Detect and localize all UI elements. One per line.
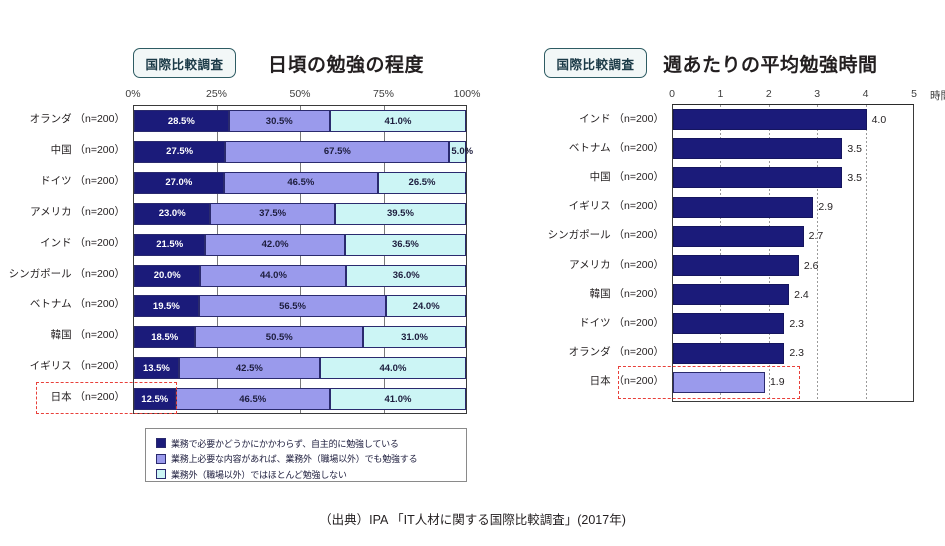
left-bar-segment: 20.0% bbox=[134, 265, 200, 287]
left-bar-segment: 46.5% bbox=[224, 172, 378, 194]
right-survey-badge: 国際比較調査 bbox=[544, 48, 647, 78]
right-axis-tick: 3 bbox=[814, 88, 820, 100]
right-axis-tick: 1 bbox=[717, 88, 723, 100]
left-category-label: 韓国 （n=200） bbox=[0, 330, 125, 341]
left-segment-value: 42.5% bbox=[236, 363, 263, 374]
left-segment-value: 23.0% bbox=[159, 208, 186, 219]
right-bar-row: 2.3 bbox=[673, 343, 913, 364]
left-bar-segment: 27.0% bbox=[134, 172, 224, 194]
left-segment-value: 19.5% bbox=[153, 301, 180, 312]
legend-item: 業務で必要かどうかにかかわらず、自主的に勉強している bbox=[156, 437, 458, 450]
right-bar-row: 4.0 bbox=[673, 109, 913, 130]
right-bar-row: 3.5 bbox=[673, 167, 913, 188]
left-bar-segment: 23.0% bbox=[134, 203, 210, 225]
right-category-label: オランダ （n=200） bbox=[500, 347, 664, 358]
left-bar-segment: 41.0% bbox=[330, 388, 466, 410]
left-segment-value: 41.0% bbox=[384, 116, 411, 127]
right-category-label: 日本 （n=200） bbox=[500, 376, 664, 387]
right-bar-value: 4.0 bbox=[872, 114, 887, 126]
right-chart-title: 週あたりの平均勉強時間 bbox=[663, 50, 878, 77]
legend-item: 業務上必要な内容があれば、業務外（職場以外）でも勉強する bbox=[156, 452, 458, 465]
left-bar-row: 19.5%56.5%24.0% bbox=[134, 295, 466, 317]
right-bar-value: 2.4 bbox=[794, 289, 809, 301]
right-bar bbox=[673, 313, 784, 334]
right-bar-value: 2.6 bbox=[804, 260, 819, 272]
left-bar-segment: 42.5% bbox=[179, 357, 320, 379]
left-segment-value: 67.5% bbox=[324, 146, 351, 157]
right-bar-value: 3.5 bbox=[847, 143, 862, 155]
right-bar-value: 2.9 bbox=[818, 201, 833, 213]
right-bar-row: 1.9 bbox=[673, 372, 913, 393]
right-bar bbox=[673, 284, 789, 305]
left-bar-row: 18.5%50.5%31.0% bbox=[134, 326, 466, 348]
left-segment-value: 50.5% bbox=[266, 332, 293, 343]
study-degree-chart-panel: 国際比較調査 日頃の勉強の程度 0%25%50%75%100% オランダ （n=… bbox=[0, 0, 500, 546]
right-bar bbox=[673, 138, 842, 159]
right-bar-value: 1.9 bbox=[770, 376, 785, 388]
right-bar-value: 3.5 bbox=[847, 172, 862, 184]
left-segment-value: 36.0% bbox=[393, 270, 420, 281]
left-axis-tick: 50% bbox=[289, 88, 310, 100]
study-hours-chart-panel: 国際比較調査 週あたりの平均勉強時間 012345時間 インド （n=200）ベ… bbox=[500, 0, 945, 546]
left-survey-badge: 国際比較調査 bbox=[133, 48, 236, 78]
right-bar bbox=[673, 255, 799, 276]
left-segment-value: 42.0% bbox=[262, 239, 289, 250]
left-bar-segment: 21.5% bbox=[134, 234, 205, 256]
left-bar-segment: 50.5% bbox=[195, 326, 363, 348]
right-category-label: 中国 （n=200） bbox=[500, 172, 664, 183]
right-bar-value: 2.3 bbox=[789, 347, 804, 359]
left-plot-area: 28.5%30.5%41.0%27.5%67.5%5.0%27.0%46.5%2… bbox=[133, 105, 467, 414]
right-bar bbox=[673, 343, 784, 364]
right-bar-value: 2.3 bbox=[789, 318, 804, 330]
right-category-label: インド （n=200） bbox=[500, 114, 664, 125]
left-bar-segment: 31.0% bbox=[363, 326, 466, 348]
right-category-label: イギリス （n=200） bbox=[500, 201, 664, 212]
left-bar-row: 23.0%37.5%39.5% bbox=[134, 203, 466, 225]
left-bar-segment: 24.0% bbox=[386, 295, 466, 317]
right-bar-row: 2.7 bbox=[673, 226, 913, 247]
left-bar-segment: 46.5% bbox=[176, 388, 330, 410]
left-segment-value: 44.0% bbox=[379, 363, 406, 374]
left-chart-title: 日頃の勉強の程度 bbox=[268, 50, 424, 77]
left-x-axis: 0%25%50%75%100% bbox=[133, 88, 467, 102]
left-bar-segment: 37.5% bbox=[210, 203, 335, 225]
left-segment-value: 46.5% bbox=[239, 394, 266, 405]
left-category-label: アメリカ （n=200） bbox=[0, 207, 125, 218]
left-bar-segment: 42.0% bbox=[205, 234, 344, 256]
left-segment-value: 27.5% bbox=[166, 146, 193, 157]
left-bar-segment: 36.0% bbox=[346, 265, 466, 287]
left-bar-row: 27.0%46.5%26.5% bbox=[134, 172, 466, 194]
left-bar-segment: 26.5% bbox=[378, 172, 466, 194]
right-bar-row: 2.6 bbox=[673, 255, 913, 276]
left-category-label: ドイツ （n=200） bbox=[0, 176, 125, 187]
left-legend: 業務で必要かどうかにかかわらず、自主的に勉強している業務上必要な内容があれば、業… bbox=[145, 428, 467, 482]
left-bar-segment: 44.0% bbox=[200, 265, 346, 287]
left-category-label: イギリス （n=200） bbox=[0, 361, 125, 372]
left-segment-value: 5.0% bbox=[451, 146, 473, 157]
left-bar-segment: 27.5% bbox=[134, 141, 225, 163]
left-segment-value: 56.5% bbox=[279, 301, 306, 312]
left-category-label: オランダ （n=200） bbox=[0, 114, 125, 125]
left-bar-segment: 28.5% bbox=[134, 110, 229, 132]
right-bar bbox=[673, 109, 867, 130]
right-category-label: シンガポール （n=200） bbox=[500, 230, 664, 241]
left-segment-value: 39.5% bbox=[387, 208, 414, 219]
right-axis-tick: 2 bbox=[766, 88, 772, 100]
left-segment-value: 41.0% bbox=[384, 394, 411, 405]
left-category-label: シンガポール （n=200） bbox=[0, 269, 125, 280]
right-bar-row: 2.3 bbox=[673, 313, 913, 334]
left-bar-row: 27.5%67.5%5.0% bbox=[134, 141, 466, 163]
left-category-label: インド （n=200） bbox=[0, 238, 125, 249]
left-segment-value: 26.5% bbox=[409, 177, 436, 188]
right-category-label: 韓国 （n=200） bbox=[500, 289, 664, 300]
right-axis-tick: 5 bbox=[911, 88, 917, 100]
left-bar-segment: 19.5% bbox=[134, 295, 199, 317]
source-note: （出典）IPA 「IT人材に関する国際比較調査」(2017年) bbox=[0, 509, 945, 528]
left-segment-value: 24.0% bbox=[413, 301, 440, 312]
left-segment-value: 27.0% bbox=[165, 177, 192, 188]
right-category-label: ベトナム （n=200） bbox=[500, 143, 664, 154]
right-bar-row: 3.5 bbox=[673, 138, 913, 159]
left-bar-segment: 36.5% bbox=[345, 234, 466, 256]
left-bar-segment: 13.5% bbox=[134, 357, 179, 379]
left-axis-tick: 100% bbox=[454, 88, 481, 100]
left-segment-value: 21.5% bbox=[156, 239, 183, 250]
legend-swatch-icon bbox=[156, 454, 166, 464]
left-category-label: 中国 （n=200） bbox=[0, 145, 125, 156]
left-segment-value: 12.5% bbox=[141, 394, 168, 405]
left-segment-value: 46.5% bbox=[287, 177, 314, 188]
right-bar-row: 2.9 bbox=[673, 197, 913, 218]
legend-swatch-icon bbox=[156, 469, 166, 479]
legend-item: 業務外（職場以外）ではほとんど勉強しない bbox=[156, 468, 458, 481]
left-axis-tick: 0% bbox=[125, 88, 140, 100]
right-x-axis: 012345時間 bbox=[672, 88, 914, 102]
left-segment-value: 44.0% bbox=[260, 270, 287, 281]
right-bar-japan bbox=[673, 372, 765, 393]
left-bar-segment: 18.5% bbox=[134, 326, 195, 348]
left-bar-segment: 12.5% bbox=[134, 388, 176, 410]
left-bar-segment: 30.5% bbox=[229, 110, 330, 132]
left-bar-segment: 41.0% bbox=[330, 110, 466, 132]
left-category-label: ベトナム （n=200） bbox=[0, 299, 125, 310]
left-bar-row: 21.5%42.0%36.5% bbox=[134, 234, 466, 256]
right-bar bbox=[673, 197, 813, 218]
legend-label: 業務で必要かどうかにかかわらず、自主的に勉強している bbox=[171, 437, 399, 450]
right-plot-area: 4.03.53.52.92.72.62.42.32.31.9 bbox=[672, 105, 914, 402]
right-axis-tick: 0 bbox=[669, 88, 675, 100]
left-bar-segment: 5.0% bbox=[449, 141, 466, 163]
legend-label: 業務外（職場以外）ではほとんど勉強しない bbox=[171, 468, 347, 481]
left-segment-value: 31.0% bbox=[401, 332, 428, 343]
left-bar-row: 13.5%42.5%44.0% bbox=[134, 357, 466, 379]
right-bar-row: 2.4 bbox=[673, 284, 913, 305]
right-axis-unit-label: 時間 bbox=[930, 88, 945, 103]
legend-swatch-icon bbox=[156, 438, 166, 448]
right-category-label: アメリカ （n=200） bbox=[500, 260, 664, 271]
left-segment-value: 20.0% bbox=[154, 270, 181, 281]
left-bar-row: 28.5%30.5%41.0% bbox=[134, 110, 466, 132]
left-category-label: 日本 （n=200） bbox=[0, 392, 125, 403]
left-bar-row: 20.0%44.0%36.0% bbox=[134, 265, 466, 287]
left-bar-segment: 67.5% bbox=[225, 141, 449, 163]
left-segment-value: 30.5% bbox=[266, 116, 293, 127]
right-axis-tick: 4 bbox=[863, 88, 869, 100]
left-axis-tick: 75% bbox=[373, 88, 394, 100]
right-bar-value: 2.7 bbox=[809, 230, 824, 242]
right-bar bbox=[673, 167, 842, 188]
left-bar-segment: 44.0% bbox=[320, 357, 466, 379]
left-segment-value: 37.5% bbox=[259, 208, 286, 219]
left-segment-value: 36.5% bbox=[392, 239, 419, 250]
right-bar bbox=[673, 226, 804, 247]
left-bar-segment: 39.5% bbox=[335, 203, 466, 225]
right-category-label: ドイツ （n=200） bbox=[500, 318, 664, 329]
left-bar-segment: 56.5% bbox=[199, 295, 387, 317]
left-segment-value: 13.5% bbox=[143, 363, 170, 374]
legend-label: 業務上必要な内容があれば、業務外（職場以外）でも勉強する bbox=[171, 452, 417, 465]
left-segment-value: 28.5% bbox=[168, 116, 195, 127]
left-segment-value: 18.5% bbox=[151, 332, 178, 343]
left-bar-row: 12.5%46.5%41.0% bbox=[134, 388, 466, 410]
left-axis-tick: 25% bbox=[206, 88, 227, 100]
